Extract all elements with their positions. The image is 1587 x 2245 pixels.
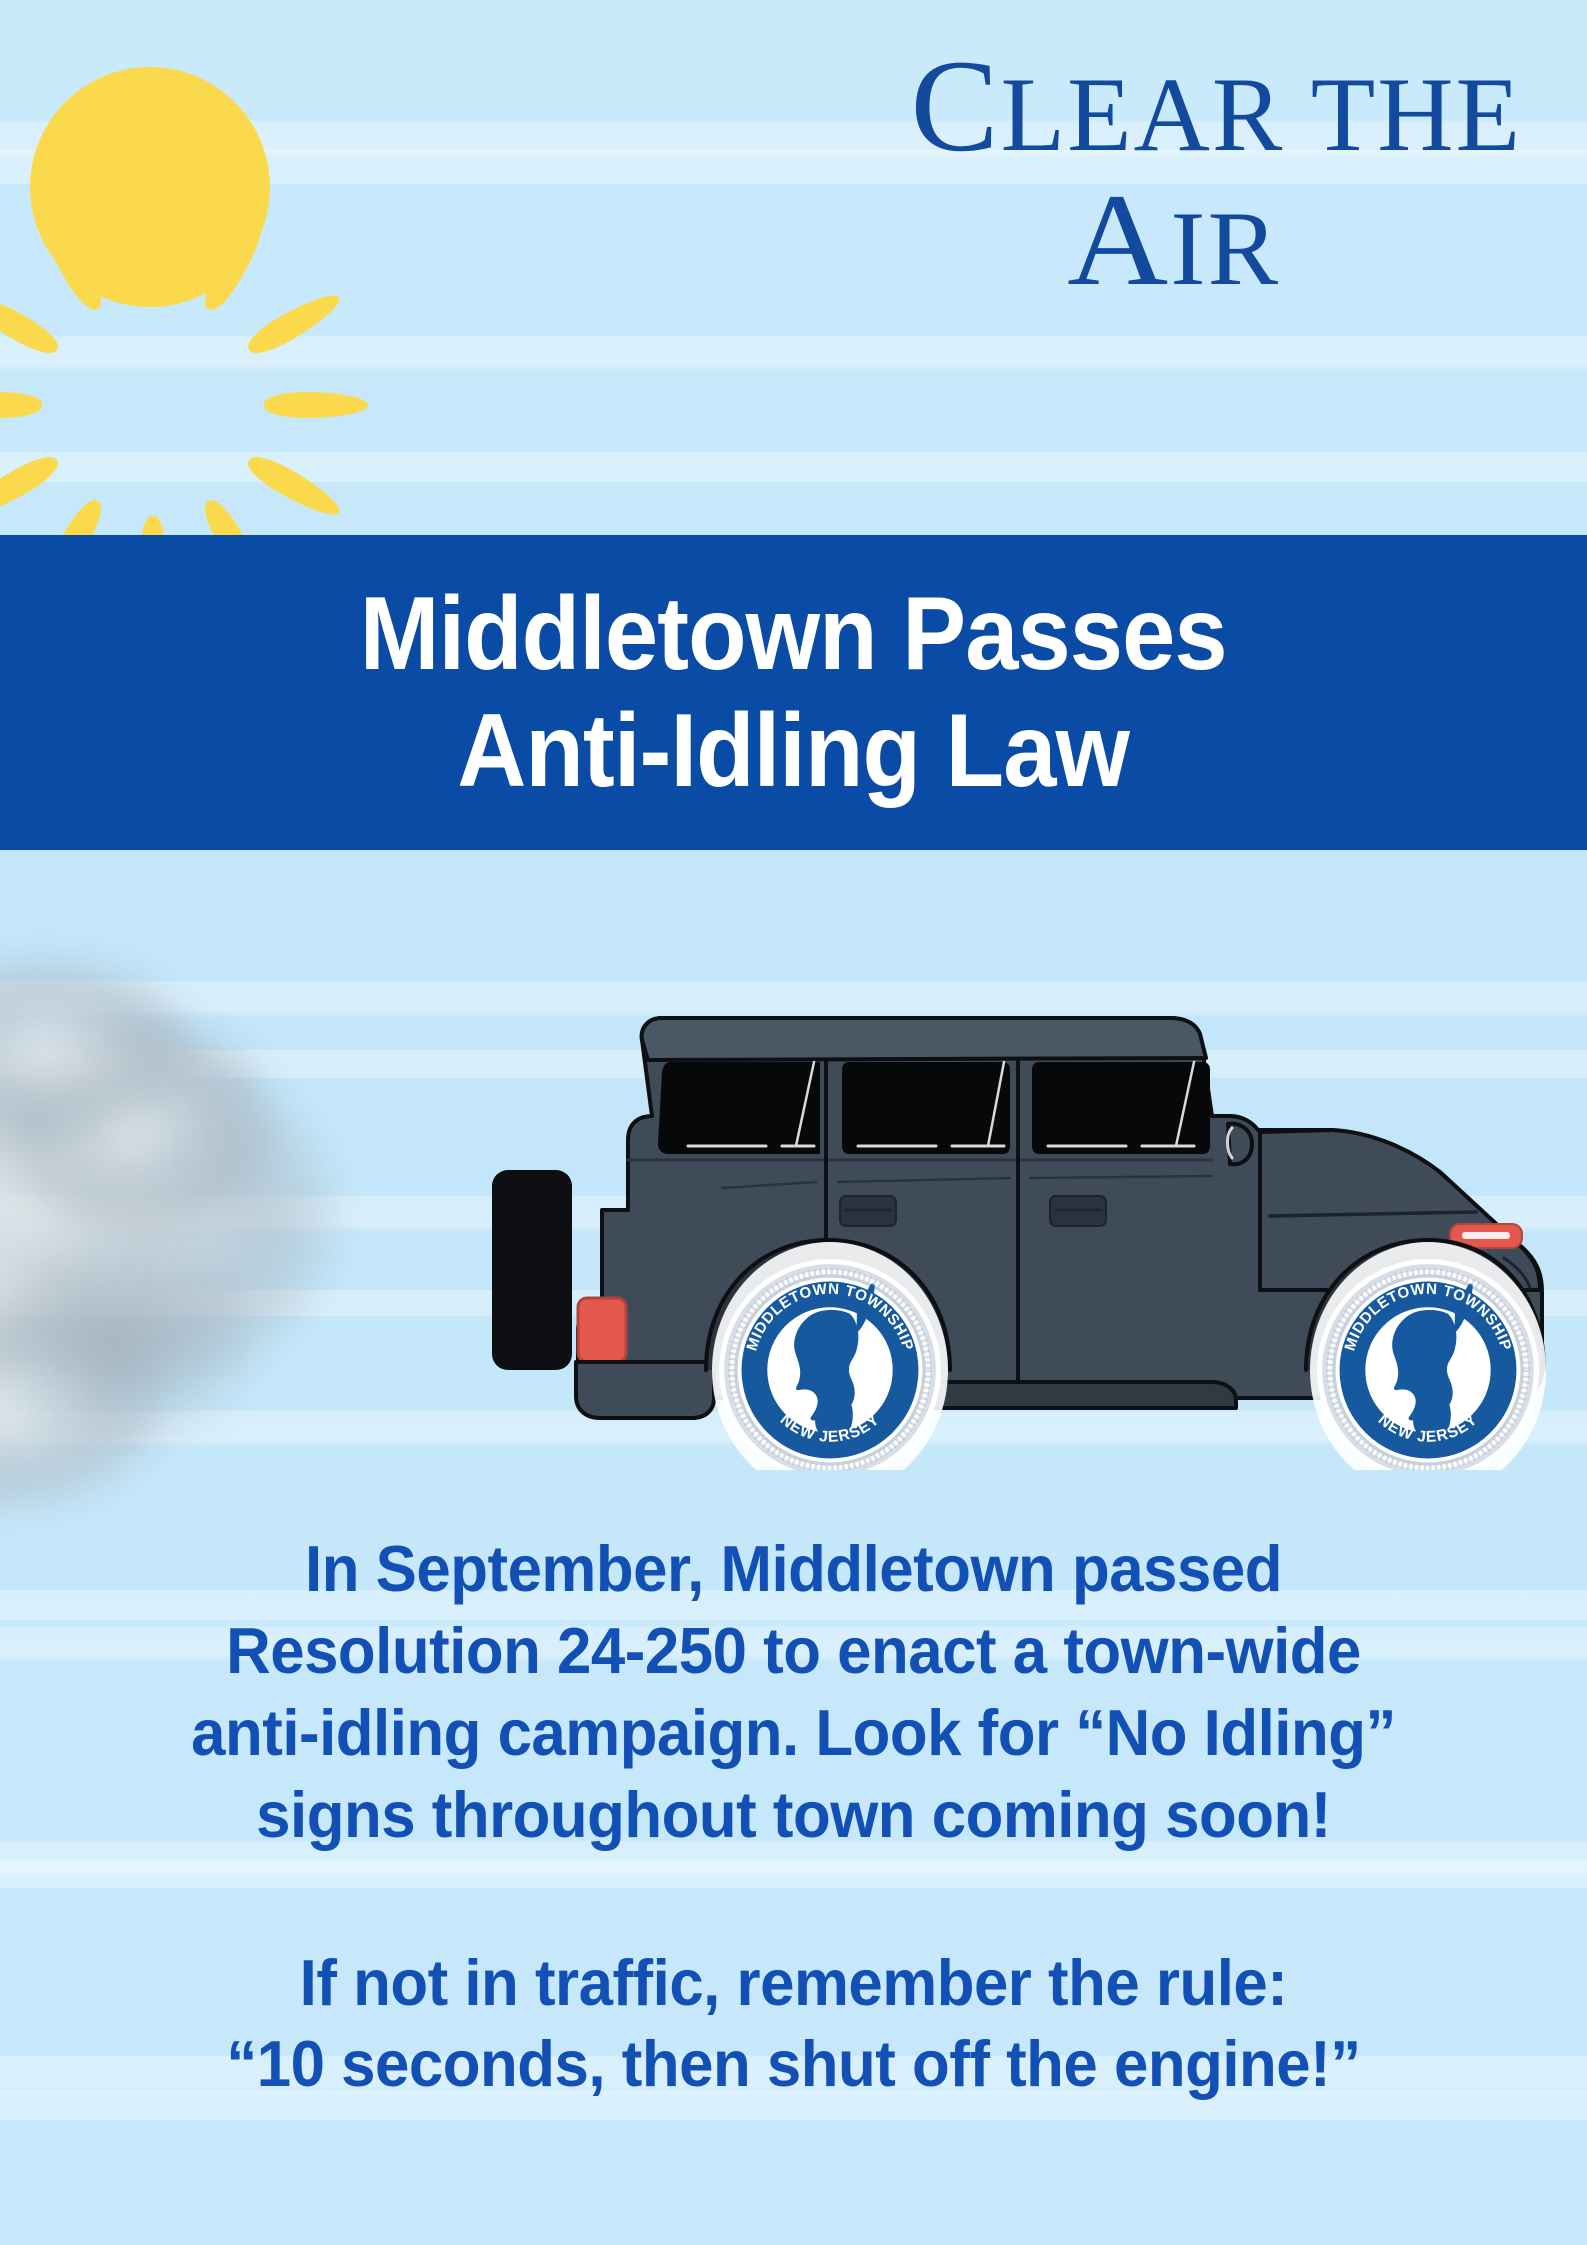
paragraph-2-line-1: If not in traffic, remember the rule: bbox=[78, 1942, 1510, 2024]
sun-icon bbox=[0, 0, 368, 405]
wordmark-lead-letter-1: C bbox=[911, 32, 1001, 179]
paragraph-1-line-3: anti-idling campaign. Look for “No Idlin… bbox=[78, 1692, 1510, 1774]
paragraph-2: If not in traffic, remember the rule: “1… bbox=[78, 1942, 1510, 2106]
paragraph-1-line-2: Resolution 24-250 to enact a town-wide bbox=[78, 1610, 1510, 1692]
wordmark-line-2: AIR bbox=[430, 178, 1550, 302]
headline-line-1: Middletown Passes bbox=[360, 576, 1227, 692]
wordmark-rest-1: LEAR THE bbox=[1001, 56, 1522, 173]
wordmark-line-1: CLEAR THE bbox=[430, 44, 1550, 168]
paragraph-1: In September, Middletown passed Resoluti… bbox=[78, 1528, 1510, 1856]
sun-ray bbox=[0, 286, 63, 361]
headline-banner: Middletown Passes Anti-Idling Law bbox=[0, 535, 1587, 850]
paragraph-2-line-2: “10 seconds, then shut off the engine!” bbox=[78, 2023, 1510, 2105]
campaign-wordmark: CLEAR THE AIR bbox=[430, 44, 1550, 302]
wordmark-lead-letter-2: A bbox=[1067, 178, 1170, 302]
paragraph-1-line-1: In September, Middletown passed bbox=[78, 1528, 1510, 1610]
wordmark-rest-2: IR bbox=[1170, 190, 1280, 307]
sun-ray bbox=[243, 286, 346, 361]
headline-line-2: Anti-Idling Law bbox=[458, 693, 1130, 809]
suv-illustration: MIDDLETOWN TOWNSHIP NEW JERSEY 16 64 bbox=[470, 910, 1570, 1470]
poster-canvas: CLEAR THE AIR Middletown Passes Anti-Idl… bbox=[0, 0, 1587, 2245]
paragraph-1-line-4: signs throughout town coming soon! bbox=[78, 1774, 1510, 1856]
body-copy: In September, Middletown passed Resoluti… bbox=[40, 1528, 1547, 2105]
